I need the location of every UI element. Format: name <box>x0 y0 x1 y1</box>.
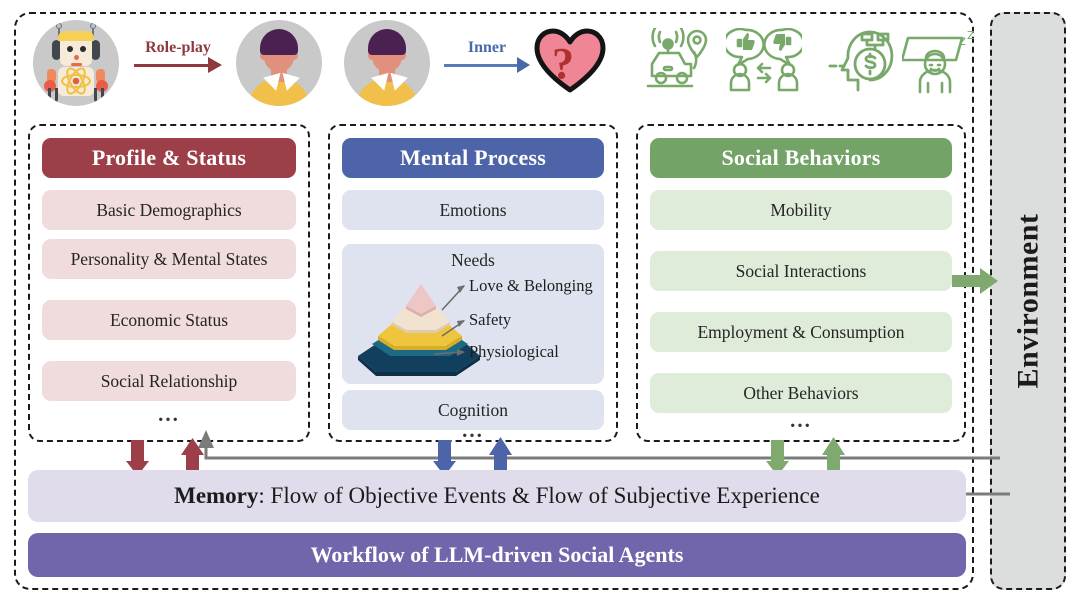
person-sleeping-icon: z Z <box>902 28 968 90</box>
item-needs[interactable]: Needs Love & Belonging Safety Physiologi… <box>342 244 604 384</box>
memory-bar[interactable]: Memory: Flow of Objective Events & Flow … <box>28 470 966 522</box>
needs-pointer-arrows <box>412 274 532 364</box>
memory-prefix: Memory <box>174 483 258 508</box>
environment-label: Environment <box>1011 214 1045 389</box>
column-header-mental: Mental Process <box>342 138 604 178</box>
column-profile-status: Profile & Status Basic Demographics Pers… <box>28 124 310 442</box>
item-employment-consumption[interactable]: Employment & Consumption <box>650 312 952 352</box>
column-header-social: Social Behaviors <box>650 138 952 178</box>
item-basic-demographics[interactable]: Basic Demographics <box>42 190 296 230</box>
person-avatar-icon-2 <box>344 20 430 106</box>
item-other-behaviors[interactable]: Other Behaviors <box>650 373 952 413</box>
roleplay-arrow-label: Role-play <box>134 39 222 57</box>
svg-text:Z: Z <box>967 29 975 42</box>
head-money-icon <box>814 28 880 90</box>
workflow-bar[interactable]: Workflow of LLM-driven Social Agents <box>28 533 966 577</box>
item-social-relationship[interactable]: Social Relationship <box>42 361 296 401</box>
item-mobility[interactable]: Mobility <box>650 190 952 230</box>
heart-question-icon: ? <box>534 28 606 94</box>
workflow-text: Workflow of LLM-driven Social Agents <box>311 542 684 568</box>
environment-label-wrap: Environment <box>990 12 1066 590</box>
ellipsis-social: ... <box>638 416 964 424</box>
column-mental-process: Mental Process Emotions Needs Love & Bel… <box>328 124 618 442</box>
car-location-icon <box>642 28 708 90</box>
social-to-environment-arrow <box>952 268 998 294</box>
inner-arrow-label: Inner <box>444 39 530 57</box>
top-icon-strip: Role-play <box>14 12 974 120</box>
person-avatar-icon-1 <box>236 20 322 106</box>
item-social-interactions[interactable]: Social Interactions <box>650 251 952 291</box>
robot-avatar-icon <box>33 20 119 106</box>
ellipsis-profile: ... <box>30 410 308 418</box>
column-header-profile: Profile & Status <box>42 138 296 178</box>
needs-title: Needs <box>342 250 604 271</box>
figure-canvas: Environment <box>0 0 1080 602</box>
memory-separator: : <box>258 483 270 508</box>
heart-question-glyph: ? <box>552 38 574 89</box>
ellipsis-mental: ... <box>330 426 616 434</box>
item-personality-mental-states[interactable]: Personality & Mental States <box>42 239 296 279</box>
memory-text: Flow of Objective Events & Flow of Subje… <box>271 483 820 508</box>
item-economic-status[interactable]: Economic Status <box>42 300 296 340</box>
thumbs-people-icon <box>726 28 792 90</box>
roleplay-arrow: Role-play <box>134 42 222 76</box>
item-emotions[interactable]: Emotions <box>342 190 604 230</box>
column-social-behaviors: Social Behaviors Mobility Social Interac… <box>636 124 966 442</box>
inner-arrow: Inner <box>444 42 530 76</box>
svg-text:z: z <box>959 34 966 49</box>
